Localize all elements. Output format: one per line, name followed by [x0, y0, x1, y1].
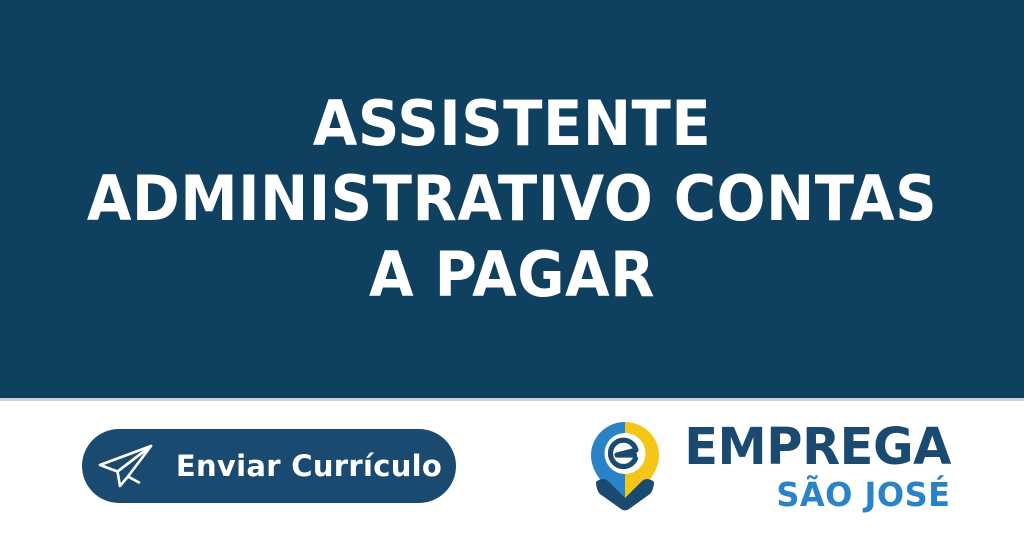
- page-title: ASSISTENTE ADMINISTRATIVO CONTAS A PAGAR: [53, 86, 972, 313]
- job-posting-card: ASSISTENTE ADMINISTRATIVO CONTAS A PAGAR…: [0, 0, 1024, 536]
- send-resume-label: Enviar Currículo: [176, 449, 442, 483]
- brand-logo-text: EMPREGA SÃO JOSÉ: [676, 422, 951, 511]
- brand-name: EMPREGA: [684, 422, 951, 473]
- map-pin-e-icon: [588, 420, 662, 512]
- brand-logo[interactable]: EMPREGA SÃO JOSÉ: [588, 418, 928, 514]
- hero-banner: ASSISTENTE ADMINISTRATIVO CONTAS A PAGAR: [0, 0, 1024, 398]
- paper-plane-icon: [96, 443, 154, 489]
- send-resume-button[interactable]: Enviar Currículo: [82, 429, 456, 503]
- brand-city: SÃO JOSÉ: [777, 478, 951, 511]
